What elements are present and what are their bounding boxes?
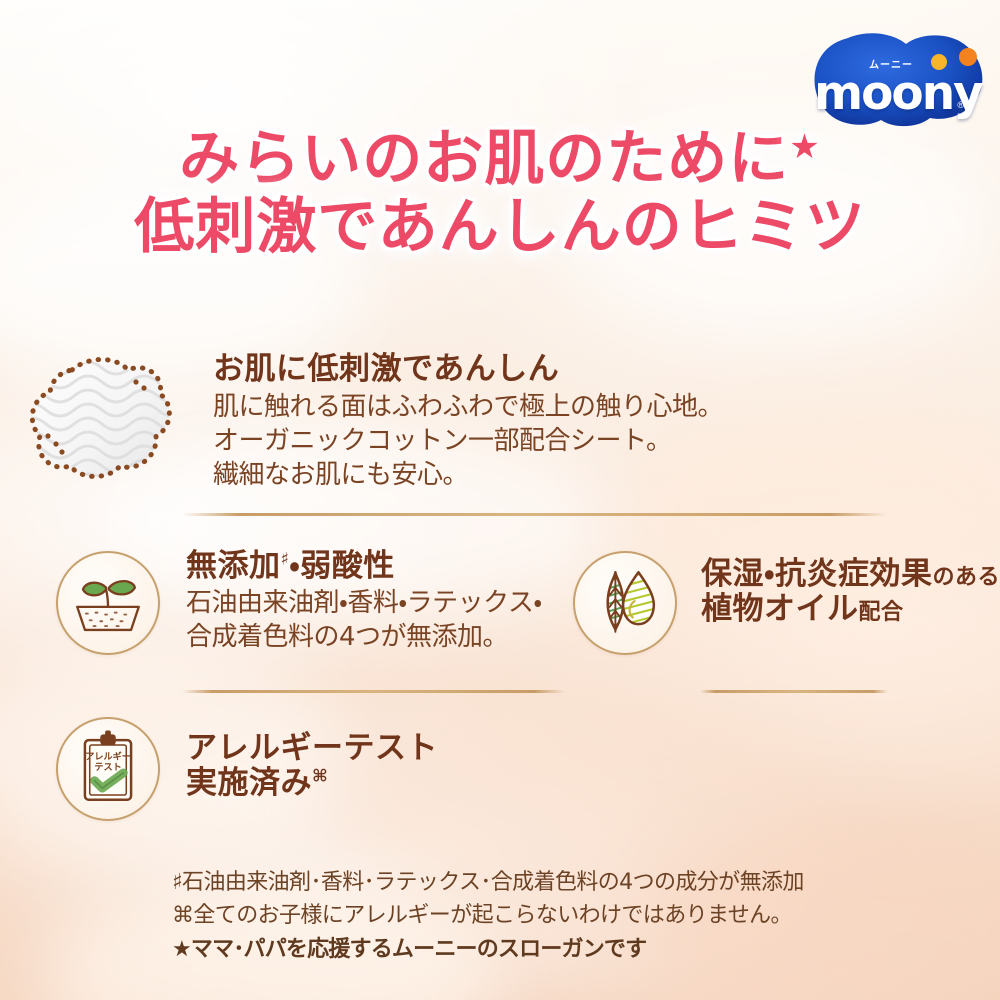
cotton-sheet-icon (28, 348, 183, 493)
clipboard-label-line-2: テスト (94, 762, 121, 773)
feature-title: お肌に低刺激であんしん (213, 352, 723, 387)
feature-body-line: 石油由来油剤・香料・ラテックス・ (186, 587, 542, 621)
page-title: みらいのお肌のために★ 低刺激であんしんのヒミツ (0, 126, 1000, 262)
divider-2-left (182, 690, 565, 693)
poster-canvas: ムーニー moony ® みらいのお肌のために★ 低刺激であんしんのヒミツ (0, 0, 1000, 1000)
divider-2-right (700, 690, 888, 693)
feature-body: 石油由来油剤・香料・ラテックス・ 合成着色料の4つが無添加。 (186, 587, 542, 655)
footnotes: ♯石油由来油剤･香料･ラテックス･合成着色料の4つの成分が無添加 ⌘全てのお子様… (172, 866, 892, 966)
feature-text-cotton: お肌に低刺激であんしん 肌に触れる面はふわふわで極上の触り心地。 オーガニックコ… (213, 352, 723, 493)
feature-text-plant-oil: 保湿・抗炎症効果のある 植物オイル配合 (701, 557, 1000, 628)
feature-row-plant-oil: 保湿・抗炎症効果のある 植物オイル配合 (573, 551, 1000, 655)
feature-row-cotton: お肌に低刺激であんしん 肌に触れる面はふわふわで極上の触り心地。 オーガニックコ… (28, 348, 723, 493)
feature-title: 無添加♯・弱酸性 (186, 549, 542, 584)
feature-title-line-2: 植物オイル配合 (701, 592, 1000, 627)
feature-body-line: 繊細なお肌にも安心。 (213, 459, 723, 493)
footnote-marker-hash: ♯ (281, 550, 290, 570)
feature-body-line: オーガニックコットン一部配合シート。 (213, 425, 723, 459)
leaf-droplet-icon (573, 551, 677, 655)
feature-title-line-1: アレルギーテスト (186, 731, 438, 766)
feature-body: 肌に触れる面はふわふわで極上の触り心地。 オーガニックコットン一部配合シート。 … (213, 391, 723, 492)
headline-line-2: 低刺激であんしんのヒミツ (0, 194, 1000, 262)
feature-row-allergy-test: アレルギー テスト アレルギーテスト 実施済み⌘ (56, 717, 438, 821)
feature-body-line: 合成着色料の4つが無添加。 (186, 621, 542, 655)
feature-row-additive-free: 無添加♯・弱酸性 石油由来油剤・香料・ラテックス・ 合成着色料の4つが無添加。 (56, 551, 542, 655)
feature-title-line-2: 実施済み⌘ (186, 766, 438, 801)
logo-registered-mark: ® (957, 100, 964, 110)
feature-body-line: 肌に触れる面はふわふわで極上の触り心地。 (213, 391, 723, 425)
clipboard-label-line-1: アレルギー (85, 750, 131, 762)
footnote-line: ♯石油由来油剤･香料･ラテックス･合成着色料の4つの成分が無添加 (172, 866, 892, 899)
footnote-line: ⌘全てのお子様にアレルギーが起こらないわけではありません。 (172, 899, 892, 932)
feature-text-allergy-test: アレルギーテスト 実施済み⌘ (186, 731, 438, 802)
headline-line-1: みらいのお肌のために★ (0, 126, 1000, 194)
feature-text-additive-free: 無添加♯・弱酸性 石油由来油剤・香料・ラテックス・ 合成着色料の4つが無添加。 (186, 549, 542, 655)
divider-1 (182, 513, 887, 516)
moony-logo[interactable]: ムーニー moony ® (808, 32, 988, 128)
sprout-soil-icon (56, 551, 160, 655)
footnote-line: ★ママ･パパを応援するムーニーのスローガンです (172, 933, 892, 966)
feature-title-line-1: 保湿・抗炎症効果のある (701, 557, 1000, 592)
footnote-marker-allergy: ⌘ (312, 767, 328, 787)
allergy-clipboard-icon: アレルギー テスト (56, 717, 160, 821)
headline-star-icon: ★ (789, 127, 820, 167)
